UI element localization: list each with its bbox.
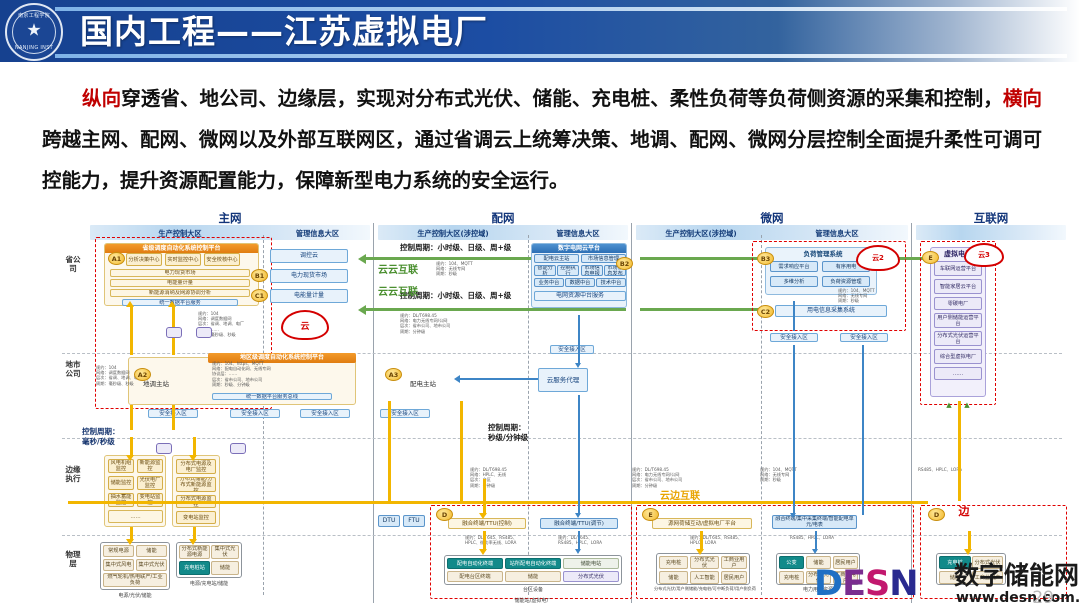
micro-a-0: 充电桩 bbox=[659, 556, 688, 569]
micro-load-item-0: 需求响应平台 bbox=[770, 261, 818, 272]
row-label-province: 省公司 bbox=[64, 255, 82, 273]
marker-a2: A2 bbox=[134, 368, 151, 381]
link-cloud-edge: 云边互联 bbox=[660, 487, 700, 502]
page-header: 南京工程学院 ★ NANJING INST 国内工程——江苏虚拟电厂 bbox=[0, 0, 1080, 62]
dist-bottom-caption2: 储能站/虚拟电厂 bbox=[444, 597, 622, 604]
v-arrow-blue-1-head bbox=[575, 363, 581, 368]
v-arrow-dist-4 bbox=[483, 531, 486, 551]
row-label-city: 地市公司 bbox=[64, 360, 82, 378]
db-icon-3 bbox=[166, 327, 182, 338]
column-title-main: 主网 bbox=[90, 210, 370, 226]
dist-cp-base: 电网资源中台服务 bbox=[534, 291, 626, 301]
v-arrow-3 bbox=[130, 405, 133, 430]
watermark-url: www.desn.com.cn bbox=[956, 591, 1080, 605]
v-arrow-6-head bbox=[189, 455, 197, 461]
watermark-desn-logo: DESN bbox=[814, 567, 918, 602]
phys-left-0: 常规电源 bbox=[103, 545, 134, 557]
cycle-sec-min: 控制周期： 秒级/分钟级 bbox=[488, 423, 528, 443]
phys-right-caption: 电源/充电站/储能 bbox=[176, 580, 242, 587]
main-mgmt-box-0: 调控云 bbox=[270, 249, 348, 263]
column-title-micro: 微网 bbox=[636, 210, 908, 226]
edge-right-1: 分布式储能/分布式新能源监控 bbox=[176, 477, 216, 492]
zone-dist-management: 管理信息大区 bbox=[528, 229, 628, 239]
logo-star-icon: ★ bbox=[26, 23, 41, 40]
dist-cp-2-2: 技术中台 bbox=[596, 278, 626, 287]
wm-letter-e: E bbox=[842, 564, 865, 604]
highlight-horizontal: 横向 bbox=[1003, 87, 1042, 110]
main-platform-title: 省级调度自动化系统控制平台 bbox=[105, 244, 258, 253]
edge-left-4: 抽水蓄能监控 bbox=[108, 493, 134, 507]
phys-left-1: 储能 bbox=[136, 545, 167, 557]
dist-bottom-4: 储能 bbox=[505, 571, 561, 582]
dist-cp-1-2: 市场信息申报 bbox=[581, 265, 603, 276]
link-cloud-cloud-1: 云云互联 bbox=[378, 261, 418, 276]
marker-e1: E bbox=[642, 508, 659, 521]
main-row-3: 统一数据平台服务 bbox=[122, 299, 238, 306]
marker-d2: D bbox=[928, 508, 945, 521]
v-arrow-blue-2-head bbox=[575, 513, 581, 518]
protocol-note-dist-3: 规约：DL/T698.45 网络：HPLC、无线 层次：台区 周期：分钟级 bbox=[470, 467, 507, 488]
vpp-item-5: 综合型虚拟电厂 bbox=[934, 349, 982, 364]
secure-access-main-3: 安全接入区 bbox=[300, 409, 350, 418]
edge-label-inet: 边 bbox=[952, 505, 976, 519]
v-arrow-blue-3 bbox=[578, 531, 580, 551]
v-arrow-blue-1 bbox=[578, 315, 580, 365]
edge-left-5: 变电站监控 bbox=[137, 493, 163, 507]
v-arrow-2-head bbox=[168, 301, 176, 307]
cloud-edge-bus bbox=[68, 501, 928, 504]
phys-left-caption: 电源/光伏/储能 bbox=[100, 592, 170, 599]
v-arrow-inet-2-head bbox=[964, 549, 972, 555]
arrow-head-1 bbox=[358, 254, 366, 264]
phys-right-3: 储能 bbox=[211, 561, 239, 575]
edge-left-6: …… bbox=[108, 510, 163, 523]
protocol-note-micro-3: 规约：104、MQTT 网络：无线专网 周期：秒级 bbox=[838, 288, 875, 304]
zone-main-management: 管理信息大区 bbox=[265, 229, 370, 239]
protocol-note-7: 规约：DL/T645、RS485、 HPLC、微功率无线、LORA bbox=[465, 535, 517, 545]
cloud-service-agent: 云服务代理 bbox=[538, 368, 588, 392]
terminal-ctrl-box: 融合终端/TTU(控制) bbox=[448, 518, 526, 529]
main-row-1: 电能量计量 bbox=[110, 279, 250, 287]
v-arrow-dist-2 bbox=[460, 401, 463, 501]
wm-letter-s: S bbox=[865, 564, 889, 604]
v-arrow-dist-4-head bbox=[479, 549, 487, 555]
arrow-head-2 bbox=[358, 305, 366, 315]
column-title-dist: 配网 bbox=[378, 210, 628, 226]
cycle-dist-1: 控制周期：小时级、日级、周+级 bbox=[400, 243, 511, 253]
edge-right-3: 变电站监控 bbox=[176, 511, 216, 524]
main-row-2: 新能源消纳及网源协调分析 bbox=[110, 289, 250, 297]
dist-bottom-2: 储能电站 bbox=[563, 558, 619, 569]
arrow-cloud-link-3 bbox=[640, 308, 770, 311]
vpp-item-4: 分布式光伏运营平台 bbox=[934, 331, 982, 346]
university-logo: 南京工程学院 ★ NANJING INST bbox=[5, 3, 63, 61]
dist-bottom-1: 站所配电自动化终端 bbox=[505, 558, 561, 569]
v-arrow-5-head bbox=[126, 455, 134, 461]
dist-bottom-5: 分布式光伏 bbox=[563, 571, 619, 582]
v-arrow-6 bbox=[193, 437, 196, 457]
marker-a1: A1 bbox=[108, 252, 125, 265]
cycle-ms-sec: 控制周期： 毫秒/秒级 bbox=[82, 427, 120, 447]
vpp-item-2: 零碳电厂 bbox=[934, 297, 982, 310]
vpp-up-icon-1: ▲ bbox=[944, 401, 954, 409]
paragraph-segment-1: 穿透省、地公司、边缘层，实现对分布式光伏、储能、充电桩、柔性负荷等负荷侧资源的采… bbox=[121, 87, 1003, 110]
city-platform-note: 统一数据平台服务总线 bbox=[212, 393, 332, 400]
secure-access-micro-1: 安全接入区 bbox=[770, 333, 818, 342]
micro-b-3: 充电桩 bbox=[779, 571, 804, 584]
vpp-item-1: 智能家居云平台 bbox=[934, 279, 982, 294]
v-arrow-micro-3 bbox=[815, 531, 817, 551]
dist-cloud-platform-title: 数字电网云平台 bbox=[532, 244, 626, 253]
main-platform-item-2: 安全校核中心 bbox=[204, 253, 240, 266]
micro-a-2: 工商业用户 bbox=[721, 556, 747, 569]
edge-left-1: 新能源监控 bbox=[137, 459, 163, 473]
micro-a-3: 储能 bbox=[659, 571, 688, 584]
v-arrow-dist-1 bbox=[388, 401, 391, 501]
separator-main-dist bbox=[373, 223, 374, 603]
logo-top-text: 南京工程学院 bbox=[7, 12, 61, 19]
arrow-head-agent bbox=[454, 375, 460, 383]
micro-a-5: 居民用户 bbox=[721, 571, 747, 584]
protocol-note-10: 规约：DL/T645、RS485、 HPLC、LORA bbox=[690, 535, 742, 545]
protocol-note-3: 规约：104、https、MQTT 网络：配电自动化网、无线专网 协议层：…… … bbox=[212, 361, 271, 387]
edge-left-0: 风电机组监控 bbox=[108, 459, 134, 473]
dist-cp-1-1: 控制执行 bbox=[557, 265, 579, 276]
v-arrow-blue-3-head bbox=[575, 549, 581, 554]
dist-cp-2-1: 数据中台 bbox=[565, 278, 595, 287]
db-icon-1 bbox=[156, 443, 172, 454]
zone-micro-management: 管理信息大区 bbox=[766, 229, 908, 239]
micro-a-1: 分布式光伏 bbox=[690, 556, 719, 569]
page-number: 29 bbox=[1032, 588, 1054, 608]
phys-left-4: 燃气轮机/热电联产/工业负荷 bbox=[103, 573, 167, 587]
marker-c1: C1 bbox=[251, 289, 268, 302]
logo-bottom-text: NANJING INST bbox=[7, 45, 61, 51]
body-paragraph: 纵向穿透省、地公司、边缘层，实现对分布式光伏、储能、充电桩、柔性负荷等负荷侧资源… bbox=[42, 78, 1042, 201]
cloud-main: 云 bbox=[281, 310, 329, 340]
v-arrow-5 bbox=[130, 437, 133, 457]
phys-left-3: 集中式光伏 bbox=[136, 559, 167, 571]
cloud-micro: 云2 bbox=[856, 245, 900, 271]
v-arrow-1-head bbox=[126, 301, 134, 307]
db-icon-2 bbox=[230, 443, 246, 454]
terminal-adj-box: 融合终端/TTU(调节) bbox=[540, 518, 618, 529]
column-title-inet: 互联网 bbox=[916, 210, 1066, 226]
vpp-item-3: 用户侧储能运营平台 bbox=[934, 313, 982, 328]
micro-b-0: 公变 bbox=[779, 556, 804, 569]
v-arrow-8-head bbox=[189, 539, 197, 545]
dist-bottom-3: 配电台区终端 bbox=[447, 571, 503, 582]
marker-e2: E bbox=[922, 251, 939, 264]
main-mgmt-box-2: 电能量计量 bbox=[270, 289, 348, 303]
v-arrow-blue-2 bbox=[578, 395, 580, 515]
phys-left-2: 集中式风电 bbox=[103, 559, 134, 571]
zone-dist-production: 生产控制大区(涉控域) bbox=[378, 229, 528, 239]
protocol-note-micro-2: 规约：104、MQTT 网络：无线专网 周期：秒级 bbox=[760, 467, 797, 483]
micro-power-info: 用电信息采集系统 bbox=[775, 305, 887, 317]
protocol-note-micro-1: 规约：DL/T698.45 网络：电力无线专网/公网 层次：省市公司、地市公司 … bbox=[632, 467, 682, 488]
wm-letter-d: D bbox=[814, 564, 842, 604]
dist-master-label: 配电主站 bbox=[400, 379, 446, 389]
dist-cp-0-0: 配电云主站 bbox=[534, 254, 579, 263]
v-arrow-micro-5 bbox=[700, 531, 703, 551]
micro-caption-a: 分布式光伏/用户侧储能/充电桩/可中断负荷/用户侧负荷 bbox=[650, 586, 760, 592]
main-platform-item-0: 分析决策中心 bbox=[126, 253, 162, 266]
page-title: 国内工程——江苏虚拟电厂 bbox=[80, 8, 488, 56]
micro-load-item-3: 负荷资源管理 bbox=[822, 276, 870, 287]
cloud-inet: 云3 bbox=[964, 243, 1004, 267]
v-arrow-dist-3-head bbox=[479, 513, 487, 519]
micro-a-4: 人工智能 bbox=[690, 571, 719, 584]
row-label-physical: 物理层 bbox=[64, 550, 82, 568]
row-divider-2 bbox=[62, 438, 1062, 439]
arrow-cloud-link-2 bbox=[366, 308, 626, 311]
vpp-platform-box: 源网荷储互动/虚拟电厂平台 bbox=[652, 518, 752, 529]
edge-left-2: 储能监控 bbox=[108, 476, 134, 490]
v-arrow-inet-2 bbox=[968, 531, 971, 551]
v-arrow-micro-1 bbox=[793, 301, 795, 331]
phys-right-2: 充电桩站 bbox=[179, 561, 210, 575]
vpp-up-icon-2: ▲ bbox=[962, 401, 972, 409]
marker-b1: B1 bbox=[251, 269, 268, 282]
marker-c2: C2 bbox=[757, 305, 774, 318]
v-arrow-micro-2 bbox=[793, 345, 795, 515]
marker-d1: D bbox=[436, 508, 453, 521]
v-arrow-inet-1 bbox=[958, 401, 961, 501]
main-mgmt-box-1: 电力现货市场 bbox=[270, 269, 348, 283]
arrow-agent-to-master bbox=[460, 378, 538, 380]
micro-terminal-box: 融合终端/集中采集终端/智能配电单元/电表 bbox=[772, 515, 857, 529]
dist-bottom-caption: 台区设备 bbox=[444, 586, 622, 593]
dist-cp-1-0: 智能分析 bbox=[534, 265, 556, 276]
protocol-note-9: RS485、HPLC、LORA bbox=[790, 535, 834, 540]
paragraph-segment-2: 跨越主网、配网、微网以及外部互联网区，通过省调云上统筹决策、地调、配网、微网分层… bbox=[42, 128, 1042, 192]
wm-letter-n: N bbox=[889, 564, 917, 604]
v-arrow-micro-2-head bbox=[790, 513, 796, 518]
v-arrow-micro-5-head bbox=[696, 549, 704, 555]
zone-micro-production: 生产控制大区(涉控域) bbox=[636, 229, 766, 239]
marker-a3: A3 bbox=[385, 368, 402, 381]
phys-right-0: 分布式新能源电源 bbox=[179, 545, 210, 559]
vpp-item-6: …… bbox=[934, 367, 982, 380]
edge-right-0: 分布式电源及电厂监控 bbox=[176, 459, 216, 474]
db-icon-4 bbox=[196, 327, 212, 338]
dtu-box: DTU bbox=[378, 515, 400, 527]
link-cloud-cloud-2: 云云互联 bbox=[378, 283, 418, 298]
v-arrow-1 bbox=[130, 305, 133, 355]
edge-left-3: 光伏电厂监控 bbox=[137, 476, 163, 490]
band-inet bbox=[916, 225, 1066, 240]
secure-access-main-2: 安全接入区 bbox=[230, 409, 280, 418]
architecture-diagram: 主网 配网 微网 互联网 生产控制大区 管理信息大区 生产控制大区(涉控域) 管… bbox=[0, 205, 1080, 608]
row-label-edge: 边缘执行 bbox=[64, 465, 82, 483]
secure-access-dist-2: 安全接入区 bbox=[550, 345, 594, 354]
v-arrow-micro-3-head bbox=[812, 549, 818, 554]
v-arrow-dist-3 bbox=[483, 479, 486, 515]
phys-right-1: 集中式光伏 bbox=[211, 545, 239, 559]
v-arrow-7-head bbox=[126, 539, 134, 545]
main-platform-item-1: 实时监控中心 bbox=[165, 253, 201, 266]
marker-b2: B2 bbox=[616, 257, 633, 270]
watermark-site-name: 数字储能网 bbox=[954, 563, 1079, 588]
marker-b3: B3 bbox=[757, 252, 774, 265]
v-arrow-4 bbox=[172, 405, 175, 430]
protocol-note-inet-1: RS485、HPLC、LORA bbox=[918, 467, 962, 472]
micro-load-item-2: 多维分析 bbox=[770, 276, 818, 287]
v-arrow-micro-4 bbox=[862, 345, 864, 515]
dist-cp-2-0: 业务中台 bbox=[534, 278, 564, 287]
main-row-0: 电力现货市场 bbox=[110, 269, 250, 277]
dist-bottom-0: 配电自动化终端 bbox=[447, 558, 503, 569]
protocol-note-dist-2: 规约：DL/T698.45 网络：电力无线专网/公网 层次：省市公司、地市公司 … bbox=[400, 313, 450, 334]
highlight-vertical: 纵向 bbox=[82, 87, 121, 110]
secure-access-micro-2: 安全接入区 bbox=[840, 333, 888, 342]
protocol-note-dist-1: 规约：104、MQTT 网络：无线专网 周期：秒级 bbox=[436, 261, 473, 277]
ftu-box: FTU bbox=[403, 515, 425, 527]
